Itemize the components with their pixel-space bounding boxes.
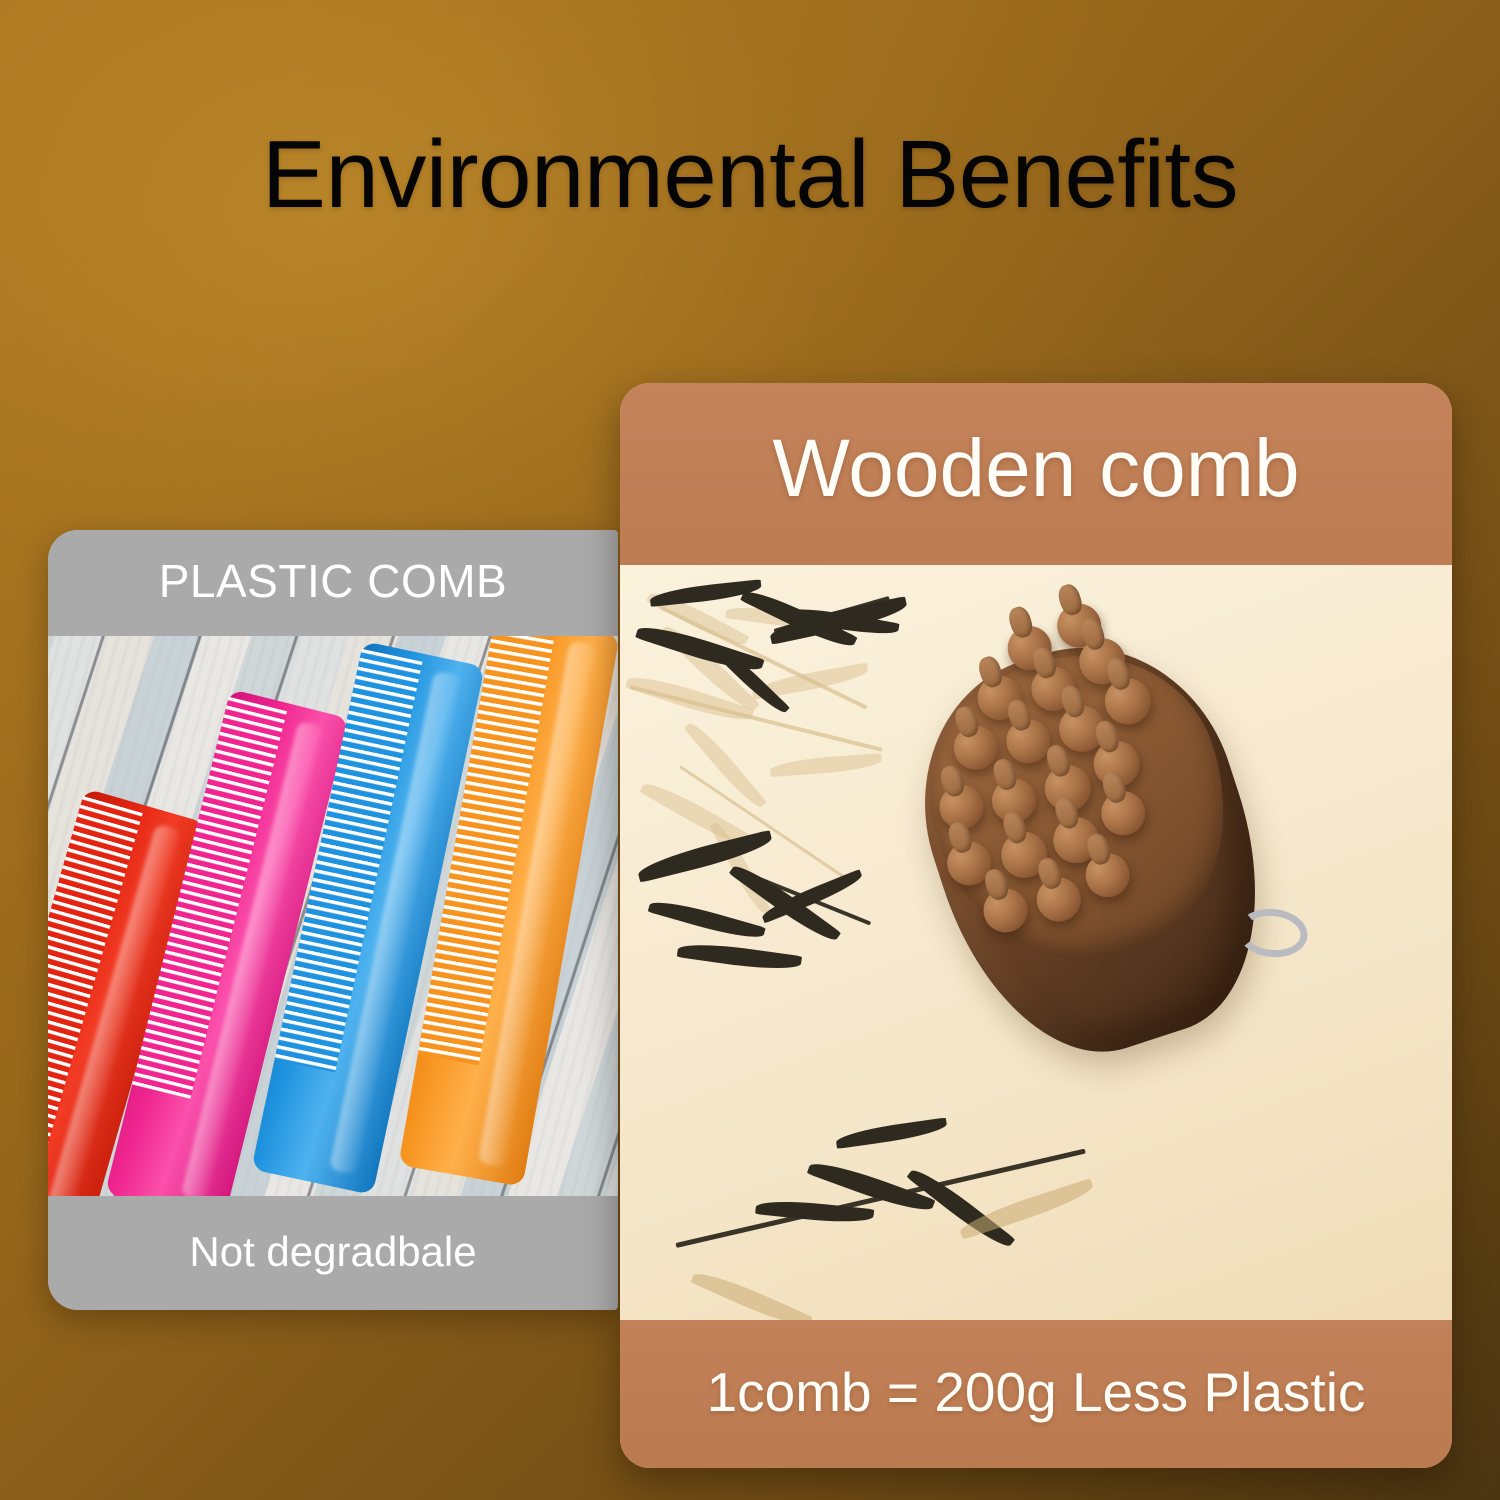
bamboo-leaf-cluster-bottom [660,1125,1120,1320]
wooden-comb-caption: 1comb = 200g Less Plastic [620,1320,1452,1468]
plastic-comb-caption-label: Not degradbale [189,1228,476,1278]
wooden-comb-header-label: Wooden comb [772,422,1299,526]
wooden-comb-photo [620,565,1452,1320]
plastic-comb-card: PLASTIC COMB [48,530,618,1310]
wooden-comb-card: Wooden comb [620,383,1452,1468]
plastic-comb-photo [48,636,618,1196]
plastic-comb-header: PLASTIC COMB [48,530,618,636]
wooden-comb-caption-label: 1comb = 200g Less Plastic [707,1360,1366,1428]
page-title: Environmental Benefits [0,124,1500,226]
wooden-massage-comb [816,565,1379,1169]
infographic-poster: Environmental Benefits PLASTIC COMB [0,0,1500,1500]
plastic-comb-caption: Not degradbale [48,1196,618,1310]
plastic-comb-header-label: PLASTIC COMB [159,554,508,612]
wooden-comb-header: Wooden comb [620,383,1452,565]
